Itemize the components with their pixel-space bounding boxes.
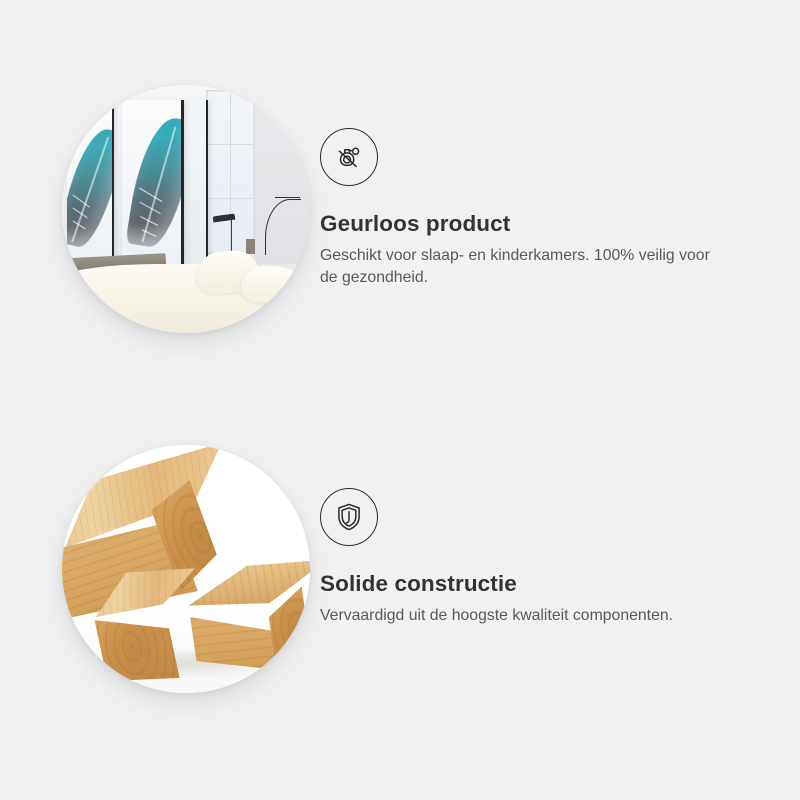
feature-media-wrap [0,40,320,360]
feature-text-block: Solide constructie Vervaardigd uit de ho… [320,400,800,627]
feature-row-geurloos-product: Geurloos product Geschikt voor slaap- en… [0,40,800,400]
feature-title: Solide constructie [320,570,754,597]
canvas-panel-edge [181,100,184,264]
wall-picture-frame [246,239,256,254]
no-fragrance-perfume-bottle-glyph [332,140,366,174]
shield-glyph [333,501,365,533]
wall-lamp-bar [275,197,300,199]
canvas-panel-edge [112,100,115,264]
feature-title: Geurloos product [320,210,754,237]
wood-scene [62,445,310,693]
no-fragrance-perfume-bottle-icon [320,128,378,186]
feature-description: Geschikt voor slaap- en kinderkamers. 10… [320,245,712,290]
feature-media-wrap [0,400,320,720]
feature-text-block: Geurloos product Geschikt voor slaap- en… [320,40,800,290]
feature-image-wooden-blocks [62,445,310,693]
canvas-panel-edge [206,100,209,264]
feather-quill [70,137,108,243]
bedroom-scene [62,85,310,333]
canvas-panel-right [191,100,208,264]
window-mullion [206,198,256,200]
shield-icon [320,488,378,546]
feature-description: Vervaardigd uit de hoogste kwaliteit com… [320,605,712,627]
wooden-block-front [81,558,216,693]
feather-quill [141,127,176,243]
feature-highlights-page: Geurloos product Geschikt voor slaap- en… [0,0,800,800]
feather-wisp [139,187,163,202]
canvas-panel-left [67,100,114,264]
feather-shape [67,124,114,252]
feature-row-solide-constructie: Solide constructie Vervaardigd uit de ho… [0,400,800,760]
bed-pillow [240,265,301,305]
feature-image-bedroom-feather-triptych [62,85,310,333]
canvas-panel-center [122,100,184,264]
feather-shape [126,114,184,251]
